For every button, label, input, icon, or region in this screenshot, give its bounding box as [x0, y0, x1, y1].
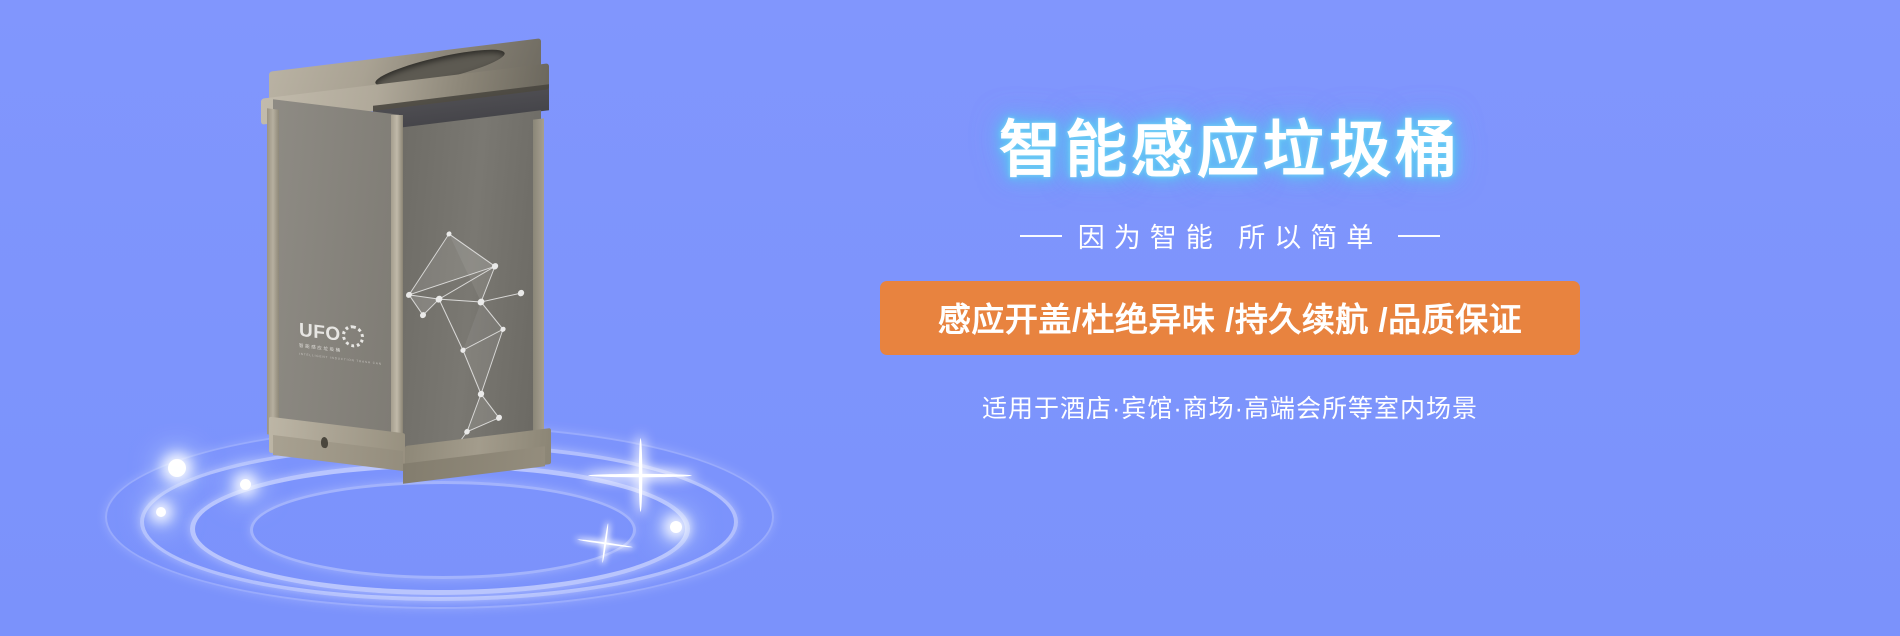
brand-logo-ring-icon: [342, 324, 364, 349]
feature-highlight-text: 感应开盖/杜绝异味 /持久续航 /品质保证: [938, 301, 1522, 338]
brand-logo: UFO 智能感应垃圾桶 INTELLIGENT INDUCTION TRASH …: [299, 319, 369, 372]
dash-right-icon: [1398, 235, 1440, 237]
trash-can-graphic: UFO 智能感应垃圾桶 INTELLIGENT INDUCTION TRASH …: [255, 55, 555, 455]
product-banner: UFO 智能感应垃圾桶 INTELLIGENT INDUCTION TRASH …: [0, 0, 1900, 636]
body-front-face: [273, 99, 399, 444]
dash-left-icon: [1020, 235, 1062, 237]
subtitle-text: 因为智能 所以简单: [1078, 216, 1383, 255]
glow-dot-icon: [156, 507, 166, 517]
trash-can-base: [259, 407, 555, 479]
lock-keyhole-icon: [321, 437, 328, 449]
body-edge-left: [267, 108, 279, 435]
ripple-ring-3: [250, 481, 636, 579]
glow-dot-icon: [670, 521, 682, 533]
subtitle-row: 因为智能 所以简单: [880, 216, 1580, 255]
body-edge-center: [391, 115, 403, 453]
marketing-copy-block: 智能感应垃圾桶 因为智能 所以简单 感应开盖/杜绝异味 /持久续航 /品质保证 …: [880, 120, 1580, 425]
glow-dot-icon: [168, 459, 186, 477]
brand-logo-letters: UFO: [299, 320, 341, 344]
product-image: UFO 智能感应垃圾桶 INTELLIGENT INDUCTION TRASH …: [70, 20, 810, 620]
feature-highlight-banner: 感应开盖/杜绝异味 /持久续航 /品质保证: [880, 281, 1580, 355]
usage-scenario-text: 适用于酒店·宾馆·商场·高端会所等室内场景: [880, 389, 1580, 425]
page-title: 智能感应垃圾桶: [880, 120, 1580, 182]
glow-dot-icon: [240, 479, 251, 490]
